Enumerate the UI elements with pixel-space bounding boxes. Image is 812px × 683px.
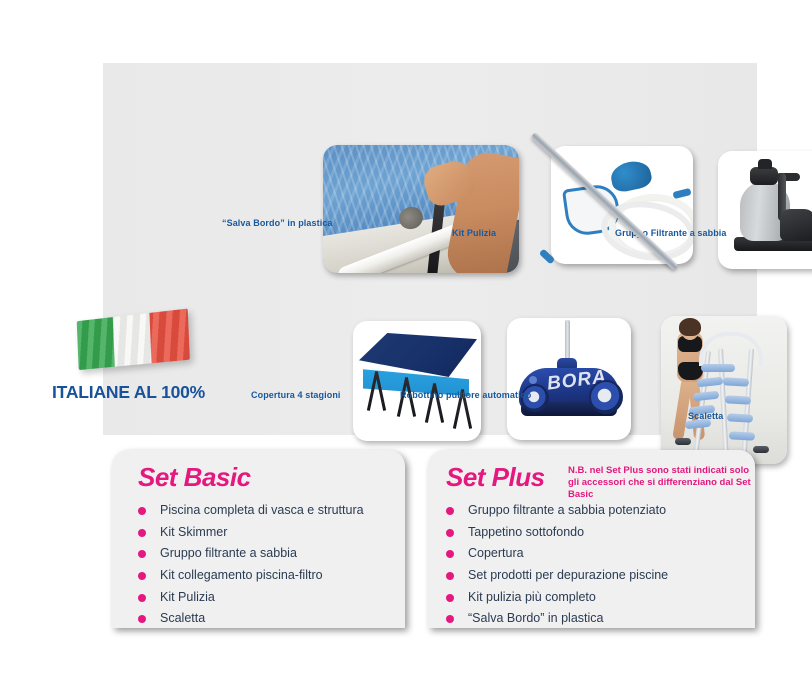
- caption-robottino: Robottino pulitore automatico: [400, 390, 531, 400]
- ladder-step: [725, 395, 751, 404]
- caption-copertura: Copertura 4 stagioni: [251, 390, 341, 400]
- italiane-al-100-label: ITALIANE AL 100%: [52, 382, 205, 403]
- ladder-foot: [753, 446, 769, 453]
- set-plus-list: Gruppo filtrante a sabbia potenziato Tap…: [446, 504, 668, 628]
- ladder-step: [701, 364, 735, 372]
- filter-pump: [780, 209, 812, 241]
- copertura-photo: [353, 321, 481, 441]
- model-hair: [679, 318, 701, 336]
- list-item: Copertura: [446, 547, 668, 560]
- caption-kit-pulizia: Kit Pulizia: [452, 228, 496, 238]
- set-plus-note: N.B. nel Set Plus sono stati indicati so…: [568, 465, 755, 501]
- filter-valve-handle: [758, 159, 772, 169]
- product-tile-gruppo-filtrante[interactable]: [718, 151, 812, 269]
- ladder-step: [727, 413, 753, 422]
- vacuum-head-icon: [609, 158, 654, 194]
- list-item: Piscina completa di vasca e struttura: [138, 504, 364, 517]
- set-basic-panel[interactable]: Set Basic Piscina completa di vasca e st…: [112, 450, 405, 628]
- list-item: Kit Skimmer: [138, 526, 364, 539]
- caption-scaletta: Scaletta: [688, 411, 723, 421]
- product-tile-robottino[interactable]: BORA: [507, 318, 631, 440]
- list-item: Gruppo filtrante a sabbia: [138, 547, 364, 560]
- list-item: Scaletta: [138, 612, 364, 625]
- list-item: Tappetino sottofondo: [446, 526, 668, 539]
- salva-bordo-photo: [323, 145, 519, 273]
- list-item: Gruppo filtrante a sabbia potenziato: [446, 504, 668, 517]
- scaletta-photo: [661, 316, 787, 464]
- robot-wheel: [589, 380, 623, 414]
- list-item: Kit Pulizia: [138, 591, 364, 604]
- product-tile-salva-bordo[interactable]: [323, 145, 519, 273]
- robot-logo-dots: [529, 376, 537, 384]
- kit-pulizia-photo: [551, 146, 693, 264]
- ladder-step: [729, 431, 755, 440]
- list-item: Kit pulizia più completo: [446, 591, 668, 604]
- filter-valve: [750, 167, 778, 185]
- set-basic-list: Piscina completa di vasca e struttura Ki…: [138, 504, 364, 628]
- set-plus-panel[interactable]: Set Plus N.B. nel Set Plus sono stati in…: [428, 450, 755, 628]
- products-panel: BORA: [103, 63, 757, 435]
- ladder-step: [723, 377, 749, 386]
- caption-salva-bordo: “Salva Bordo” in plastica: [222, 218, 333, 228]
- list-item: Set prodotti per depurazione piscine: [446, 569, 668, 582]
- product-tile-kit-pulizia[interactable]: [551, 146, 693, 264]
- ladder-foot: [675, 438, 691, 445]
- hose-cuff: [672, 188, 691, 199]
- list-item: “Salva Bordo” in plastica: [446, 612, 668, 625]
- list-item: Kit collegamento piscina-filtro: [138, 569, 364, 582]
- gruppo-filtrante-photo: [718, 151, 812, 269]
- product-tile-scaletta[interactable]: [661, 316, 787, 464]
- italian-flag-icon: [77, 309, 190, 371]
- set-plus-title: Set Plus: [446, 462, 545, 493]
- set-basic-title: Set Basic: [138, 462, 251, 493]
- robottino-photo: BORA: [507, 318, 631, 440]
- italian-flag-badge: [76, 315, 188, 365]
- product-tile-copertura[interactable]: [353, 321, 481, 441]
